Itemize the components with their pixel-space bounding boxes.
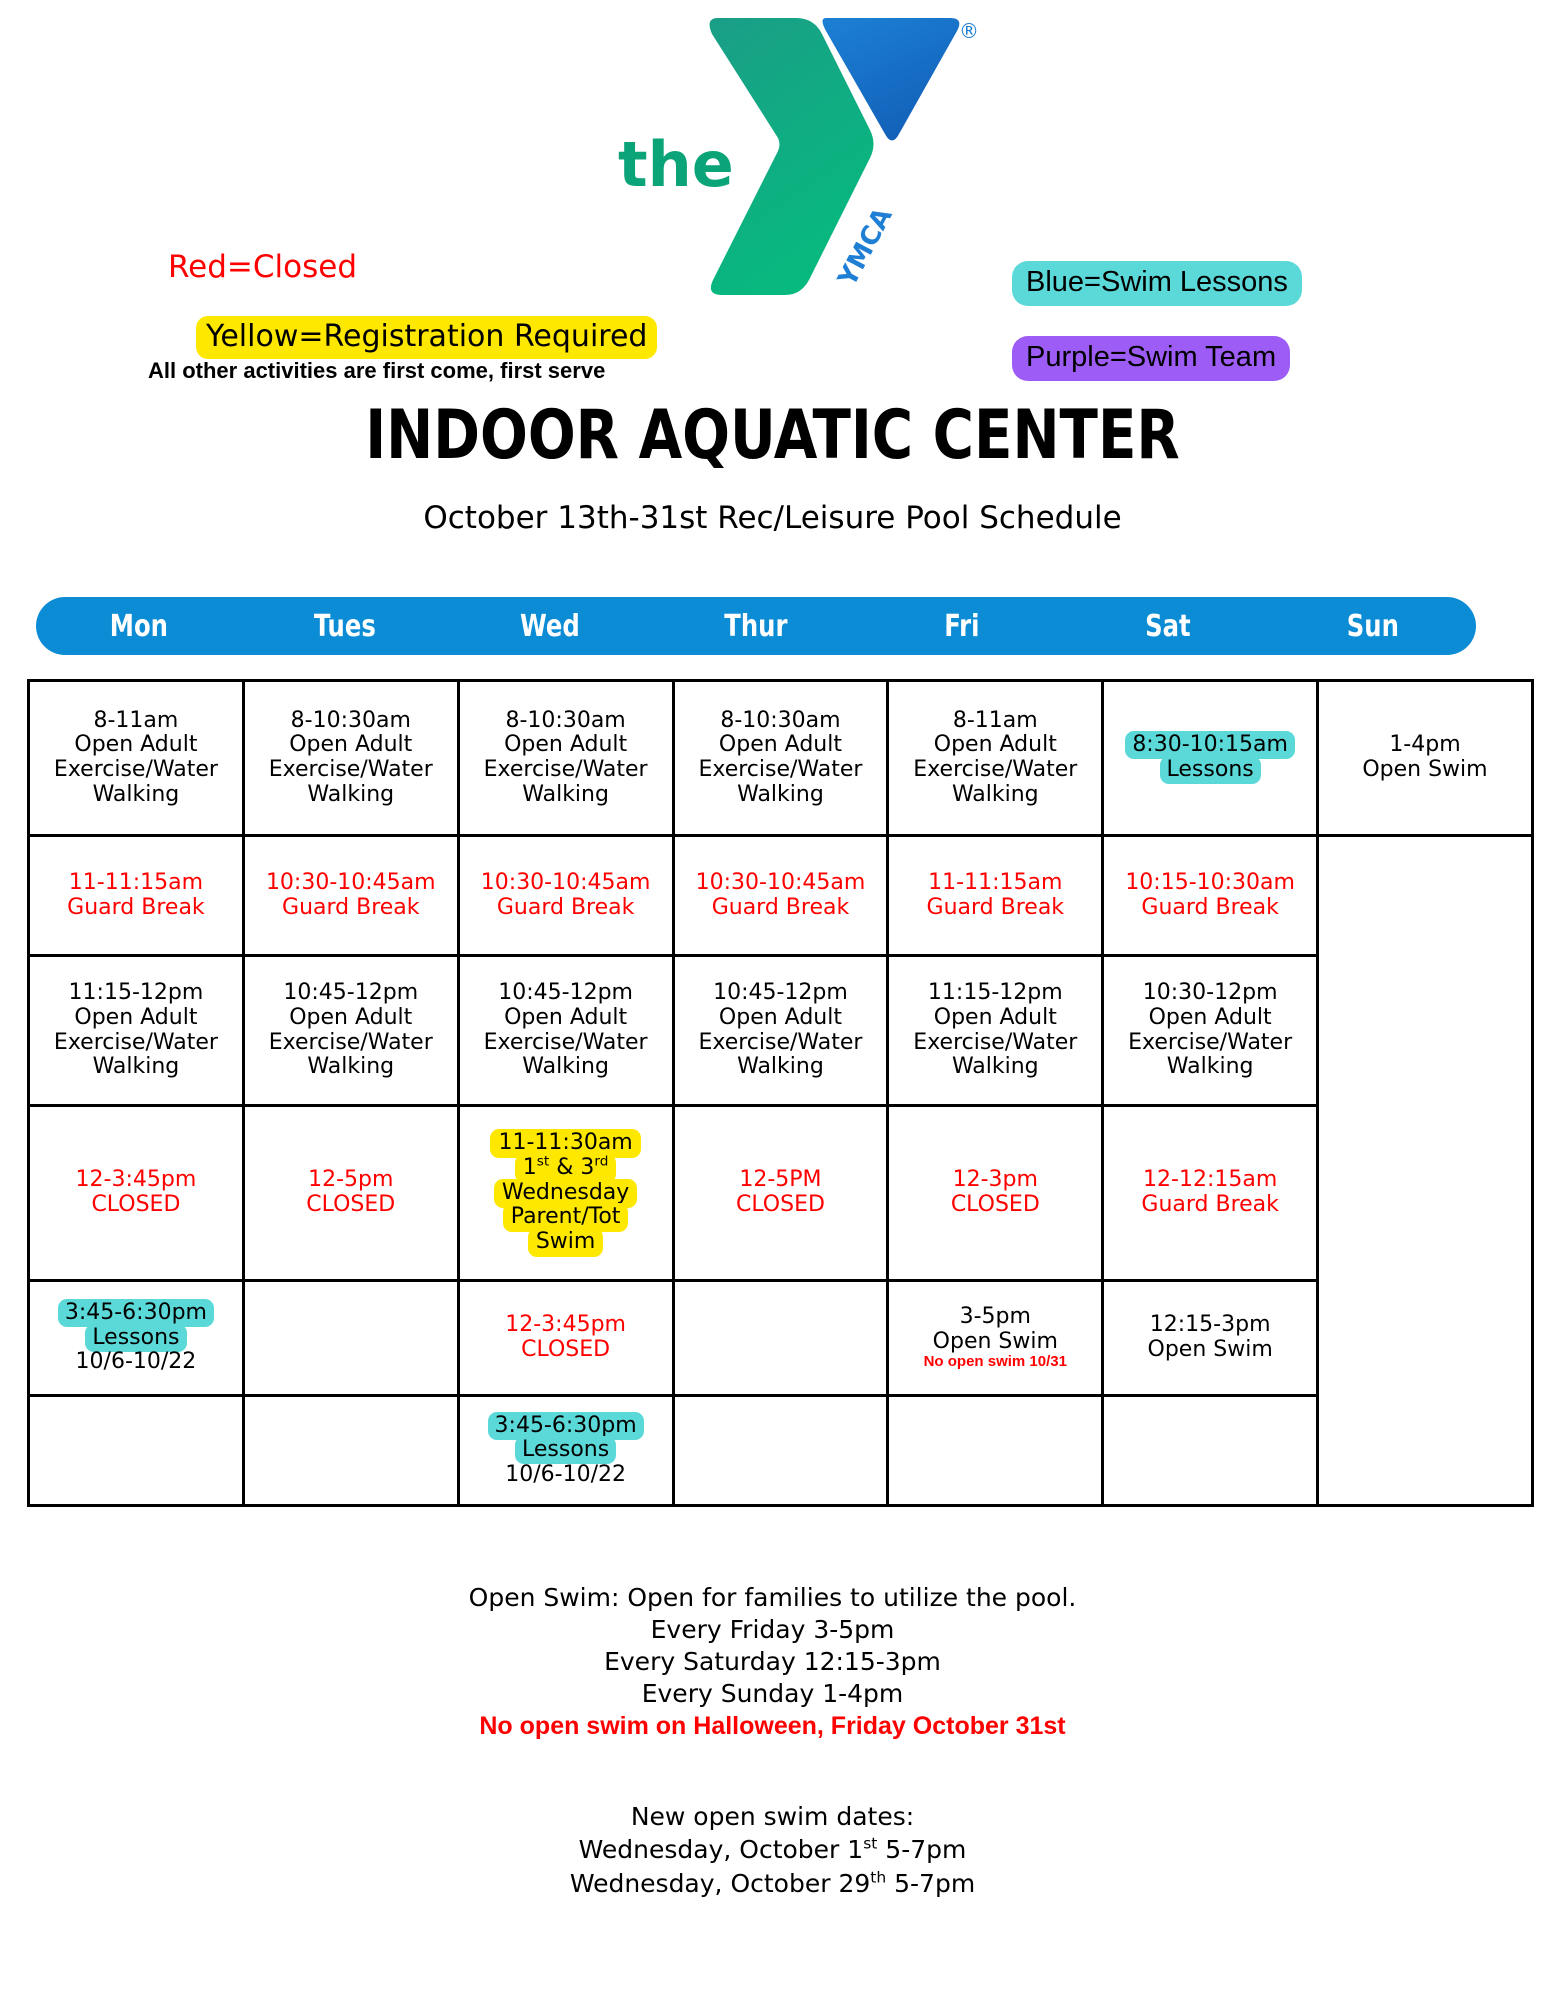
cell-line: Walking <box>891 783 1099 808</box>
cell-line: 8-10:30am <box>247 709 455 734</box>
cell-mon-r1: 8-11amOpen AdultExercise/WaterWalking <box>29 681 244 836</box>
footer-halloween-note: No open swim on Halloween, Friday Octobe… <box>0 1710 1545 1742</box>
cell-line: Walking <box>891 1055 1099 1080</box>
ymca-logo: the YMCA ® <box>600 8 990 298</box>
cell-fri-r4: 12-3pmCLOSED <box>888 1106 1103 1281</box>
schedule-row: 8-11amOpen AdultExercise/WaterWalking8-1… <box>29 681 1533 836</box>
cell-text: Open Swim <box>933 1329 1058 1354</box>
cell-line: Open Adult <box>677 733 885 758</box>
cell-text: Walking <box>952 1054 1039 1079</box>
footer-line: Open Swim: Open for families to utilize … <box>0 1582 1545 1614</box>
cell-text: 8-10:30am <box>291 708 411 733</box>
cell-text: Walking <box>952 782 1039 807</box>
cell-text: 11:15-12pm <box>928 980 1063 1005</box>
cell-line: 11:15-12pm <box>32 981 240 1006</box>
cell-text: 12-3:45pm <box>76 1167 197 1192</box>
cell-line: 12-5pm <box>247 1168 455 1193</box>
cell-line: 10:30-10:45am <box>677 871 885 896</box>
cell-text: Walking <box>737 782 824 807</box>
new-date-line: Wednesday, October 1st 5-7pm <box>0 1833 1545 1866</box>
cell-tues-r3: 10:45-12pmOpen AdultExercise/WaterWalkin… <box>243 956 458 1106</box>
cell-thur-r3: 10:45-12pmOpen AdultExercise/WaterWalkin… <box>673 956 888 1106</box>
cell-line: Walking <box>247 1055 455 1080</box>
cell-sat-r3: 10:30-12pmOpen AdultExercise/WaterWalkin… <box>1103 956 1318 1106</box>
cell-sat-r5: 12:15-3pmOpen Swim <box>1103 1281 1318 1396</box>
cell-text: 8-11am <box>94 708 179 733</box>
cell-text: Swim <box>528 1228 604 1257</box>
cell-line: Guard Break <box>891 896 1099 921</box>
cell-line: Open Swim <box>891 1330 1099 1355</box>
cell-mon-r3: 11:15-12pmOpen AdultExercise/WaterWalkin… <box>29 956 244 1106</box>
legend-all-other-note: All other activities are first come, fir… <box>148 358 605 384</box>
cell-line: Guard Break <box>1106 1193 1314 1218</box>
cell-line: Open Adult <box>32 1006 240 1031</box>
cell-text: CLOSED <box>306 1192 395 1217</box>
cell-text: Walking <box>737 1054 824 1079</box>
logo-ymca-text: YMCA <box>832 203 898 292</box>
cell-line: Open Adult <box>462 1006 670 1031</box>
cell-text: Open Adult <box>719 1005 842 1030</box>
cell-text: Open Swim <box>1148 1337 1273 1362</box>
cell-fri-r1: 8-11amOpen AdultExercise/WaterWalking <box>888 681 1103 836</box>
schedule-row: 11-11:15amGuard Break10:30-10:45amGuard … <box>29 836 1533 956</box>
cell-text: 10:30-10:45am <box>266 870 436 895</box>
legend-red: Red=Closed <box>168 249 357 285</box>
cell-line: Exercise/Water <box>1106 1031 1314 1056</box>
cell-tues-r5 <box>243 1281 458 1396</box>
cell-tues-r6 <box>243 1396 458 1506</box>
cell-text: Guard Break <box>1141 1192 1279 1217</box>
cell-line: Guard Break <box>462 896 670 921</box>
cell-text: Guard Break <box>282 895 420 920</box>
cell-text: Lessons <box>85 1324 186 1352</box>
day-header-bar: MonTuesWedThurFriSatSun <box>36 597 1476 655</box>
cell-text: Walking <box>522 782 609 807</box>
cell-line: CLOSED <box>247 1193 455 1218</box>
cell-line: Exercise/Water <box>32 1031 240 1056</box>
footer-line: Every Friday 3-5pm <box>0 1614 1545 1646</box>
cell-text: Guard Break <box>1141 895 1279 920</box>
cell-text: 10:45-12pm <box>283 980 418 1005</box>
cell-text: Guard Break <box>927 895 1065 920</box>
cell-sun-r1: 1-4pmOpen Swim <box>1318 681 1533 836</box>
cell-text: 11-11:15am <box>69 870 203 895</box>
cell-text: Open Adult <box>1149 1005 1272 1030</box>
cell-text: CLOSED <box>951 1192 1040 1217</box>
footer-line: Every Sunday 1-4pm <box>0 1678 1545 1710</box>
cell-wed-r5: 12-3:45pmCLOSED <box>458 1281 673 1396</box>
footer-line: Every Saturday 12:15-3pm <box>0 1646 1545 1678</box>
cell-line: Exercise/Water <box>247 1031 455 1056</box>
cell-line: Open Swim <box>1321 758 1529 783</box>
cell-text: Exercise/Water <box>698 757 862 782</box>
cell-text: Guard Break <box>67 895 205 920</box>
cell-text: 11:15-12pm <box>69 980 204 1005</box>
cell-fri-r2: 11-11:15amGuard Break <box>888 836 1103 956</box>
cell-text: CLOSED <box>91 1192 180 1217</box>
schedule-row: 3:45-6:30pmLessons10/6-10/22 <box>29 1396 1533 1506</box>
cell-thur-r1: 8-10:30amOpen AdultExercise/WaterWalking <box>673 681 888 836</box>
cell-wed-r3: 10:45-12pmOpen AdultExercise/WaterWalkin… <box>458 956 673 1106</box>
cell-fri-r6 <box>888 1396 1103 1506</box>
cell-line: CLOSED <box>462 1338 670 1363</box>
day-header-fri: Fri <box>869 597 1054 655</box>
cell-line: Exercise/Water <box>462 1031 670 1056</box>
cell-thur-r2: 10:30-10:45amGuard Break <box>673 836 888 956</box>
cell-text: Walking <box>93 1054 180 1079</box>
footer-notes: Open Swim: Open for families to utilize … <box>0 1582 1545 1742</box>
cell-line: Open Adult <box>1106 1006 1314 1031</box>
cell-line: Walking <box>32 783 240 808</box>
cell-line: Lessons <box>32 1326 240 1351</box>
cell-text: 10:15-10:30am <box>1125 870 1295 895</box>
cell-text: Exercise/Water <box>269 757 433 782</box>
cell-line: Parent/Tot <box>462 1205 670 1230</box>
cell-line: Open Adult <box>462 733 670 758</box>
cell-line: 10:30-10:45am <box>462 871 670 896</box>
cell-line: CLOSED <box>891 1193 1099 1218</box>
cell-text: Guard Break <box>712 895 850 920</box>
cell-text: Open Adult <box>504 1005 627 1030</box>
schedule-grid: 8-11amOpen AdultExercise/WaterWalking8-1… <box>27 679 1482 1507</box>
cell-line: Open Adult <box>247 1006 455 1031</box>
cell-text: CLOSED <box>736 1192 825 1217</box>
cell-sat-r4: 12-12:15amGuard Break <box>1103 1106 1318 1281</box>
cell-line: Walking <box>462 1055 670 1080</box>
cell-line: 10:45-12pm <box>462 981 670 1006</box>
cell-text: Lessons <box>515 1436 616 1464</box>
cell-text: Exercise/Water <box>484 757 648 782</box>
legend-blue: Blue=Swim Lessons <box>1012 261 1302 306</box>
schedule-row: 3:45-6:30pmLessons10/6-10/2212-3:45pmCLO… <box>29 1281 1533 1396</box>
cell-line: 3:45-6:30pm <box>32 1301 240 1326</box>
page-title: INDOOR AQUATIC CENTER <box>62 396 1483 475</box>
cell-line: Swim <box>462 1230 670 1255</box>
day-header-wed: Wed <box>458 597 643 655</box>
cell-line: Guard Break <box>1106 896 1314 921</box>
cell-line: Walking <box>32 1055 240 1080</box>
cell-date-range: 10/6-10/22 <box>32 1350 240 1375</box>
cell-text: 12-3pm <box>953 1167 1038 1192</box>
cell-line: 10:30-10:45am <box>247 871 455 896</box>
cell-sat-r1: 8:30-10:15amLessons <box>1103 681 1318 836</box>
cell-text: 8-10:30am <box>505 708 625 733</box>
cell-line: Lessons <box>1106 758 1314 783</box>
footer-new-dates: New open swim dates:Wednesday, October 1… <box>0 1800 1545 1900</box>
cell-mon-r2: 11-11:15amGuard Break <box>29 836 244 956</box>
cell-line: 10:30-12pm <box>1106 981 1314 1006</box>
cell-text: 3:45-6:30pm <box>58 1299 214 1327</box>
cell-text: Walking <box>1167 1054 1254 1079</box>
cell-text: 12-12:15am <box>1143 1167 1277 1192</box>
cell-line: 12:15-3pm <box>1106 1313 1314 1338</box>
cell-line: 12-5PM <box>677 1168 885 1193</box>
cell-date-range: 10/6-10/22 <box>462 1463 670 1488</box>
cell-text: 1-4pm <box>1389 732 1460 757</box>
cell-line: Open Adult <box>247 733 455 758</box>
cell-text: 11-11:15am <box>928 870 1062 895</box>
legend-purple: Purple=Swim Team <box>1012 336 1290 381</box>
cell-line: Walking <box>677 783 885 808</box>
cell-text: Exercise/Water <box>484 1030 648 1055</box>
cell-line: Exercise/Water <box>891 758 1099 783</box>
cell-line: Lessons <box>462 1438 670 1463</box>
cell-text: 10:45-12pm <box>713 980 848 1005</box>
cell-line: Walking <box>247 783 455 808</box>
cell-line: CLOSED <box>677 1193 885 1218</box>
cell-line: Exercise/Water <box>247 758 455 783</box>
cell-text: Walking <box>307 1054 394 1079</box>
day-header-thur: Thur <box>663 597 848 655</box>
page-subtitle: October 13th-31st Rec/Leisure Pool Sched… <box>0 500 1545 536</box>
cell-text: Exercise/Water <box>913 757 1077 782</box>
cell-line: Walking <box>1106 1055 1314 1080</box>
cell-line: 11-11:30am <box>462 1131 670 1156</box>
schedule-row: 11:15-12pmOpen AdultExercise/WaterWalkin… <box>29 956 1533 1106</box>
cell-mon-r5: 3:45-6:30pmLessons10/6-10/22 <box>29 1281 244 1396</box>
cell-thur-r6 <box>673 1396 888 1506</box>
cell-line: 11:15-12pm <box>891 981 1099 1006</box>
cell-text: Exercise/Water <box>913 1030 1077 1055</box>
cell-sun-merged <box>1318 836 1533 1506</box>
cell-line: 3-5pm <box>891 1305 1099 1330</box>
schedule-row: 12-3:45pmCLOSED12-5pmCLOSED11-11:30am1st… <box>29 1106 1533 1281</box>
cell-line: 10:45-12pm <box>677 981 885 1006</box>
cell-text: Exercise/Water <box>54 757 218 782</box>
cell-text: Lessons <box>1160 756 1261 784</box>
cell-text: CLOSED <box>521 1337 610 1362</box>
cell-sat-r2: 10:15-10:30amGuard Break <box>1103 836 1318 956</box>
logo-registered-icon: ® <box>959 19 979 43</box>
cell-line: 8-10:30am <box>677 709 885 734</box>
cell-tues-r1: 8-10:30amOpen AdultExercise/WaterWalking <box>243 681 458 836</box>
cell-text: 10:45-12pm <box>498 980 633 1005</box>
cell-line: Wednesday <box>462 1181 670 1206</box>
cell-text: Open Swim <box>1362 757 1487 782</box>
cell-text: Open Adult <box>719 732 842 757</box>
cell-text: 12-5PM <box>739 1167 821 1192</box>
cell-mon-r4: 12-3:45pmCLOSED <box>29 1106 244 1281</box>
cell-line: Open Swim <box>1106 1338 1314 1363</box>
cell-text: 12-3:45pm <box>505 1312 626 1337</box>
cell-text: 12-5pm <box>308 1167 393 1192</box>
cell-exception-note: No open swim 10/31 <box>891 1354 1099 1371</box>
cell-line: 8-11am <box>891 709 1099 734</box>
cell-text: Open Adult <box>74 1005 197 1030</box>
cell-tues-r4: 12-5pmCLOSED <box>243 1106 458 1281</box>
cell-fri-r3: 11:15-12pmOpen AdultExercise/WaterWalkin… <box>888 956 1103 1106</box>
legend-yellow: Yellow=Registration Required <box>196 316 657 359</box>
cell-text: 12:15-3pm <box>1150 1312 1271 1337</box>
cell-line: 12-3pm <box>891 1168 1099 1193</box>
ymca-logo-svg: the YMCA ® <box>600 8 990 298</box>
cell-text: Open Adult <box>934 1005 1057 1030</box>
cell-line: Open Adult <box>677 1006 885 1031</box>
new-dates-title: New open swim dates: <box>0 1800 1545 1833</box>
cell-line: 10:45-12pm <box>247 981 455 1006</box>
cell-line: Guard Break <box>677 896 885 921</box>
cell-line: CLOSED <box>32 1193 240 1218</box>
cell-line: 10:15-10:30am <box>1106 871 1314 896</box>
cell-text: Exercise/Water <box>269 1030 433 1055</box>
cell-fri-r5: 3-5pmOpen SwimNo open swim 10/31 <box>888 1281 1103 1396</box>
cell-line: 12-3:45pm <box>32 1168 240 1193</box>
cell-tues-r2: 10:30-10:45amGuard Break <box>243 836 458 956</box>
cell-line: 12-12:15am <box>1106 1168 1314 1193</box>
cell-wed-r6: 3:45-6:30pmLessons10/6-10/22 <box>458 1396 673 1506</box>
cell-line: 11-11:15am <box>891 871 1099 896</box>
day-header-mon: Mon <box>46 597 231 655</box>
cell-text: Walking <box>522 1054 609 1079</box>
cell-line: Walking <box>462 783 670 808</box>
cell-text: 3-5pm <box>960 1304 1031 1329</box>
cell-text: Open Adult <box>74 732 197 757</box>
cell-text: Open Adult <box>289 732 412 757</box>
cell-line: 11-11:15am <box>32 871 240 896</box>
cell-line: 12-3:45pm <box>462 1313 670 1338</box>
cell-line: Guard Break <box>247 896 455 921</box>
cell-line: 8-11am <box>32 709 240 734</box>
cell-text: Walking <box>307 782 394 807</box>
cell-text: Guard Break <box>497 895 635 920</box>
cell-line: Walking <box>677 1055 885 1080</box>
cell-line: 8-10:30am <box>462 709 670 734</box>
cell-wed-r1: 8-10:30amOpen AdultExercise/WaterWalking <box>458 681 673 836</box>
cell-text: 10:30-10:45am <box>696 870 866 895</box>
cell-text: Open Adult <box>504 732 627 757</box>
cell-line: Exercise/Water <box>462 758 670 783</box>
cell-wed-r2: 10:30-10:45amGuard Break <box>458 836 673 956</box>
cell-line: Open Adult <box>891 733 1099 758</box>
cell-line: Exercise/Water <box>32 758 240 783</box>
cell-line: Exercise/Water <box>677 1031 885 1056</box>
cell-text: Walking <box>93 782 180 807</box>
cell-line: Guard Break <box>32 896 240 921</box>
cell-line: 3:45-6:30pm <box>462 1414 670 1439</box>
cell-text: 8-10:30am <box>720 708 840 733</box>
cell-line: 8:30-10:15am <box>1106 733 1314 758</box>
cell-sat-r6 <box>1103 1396 1318 1506</box>
day-header-sun: Sun <box>1281 597 1466 655</box>
cell-thur-r4: 12-5PMCLOSED <box>673 1106 888 1281</box>
cell-text: 10:30-12pm <box>1143 980 1278 1005</box>
day-header-sat: Sat <box>1075 597 1260 655</box>
cell-line: 1st & 3rd <box>462 1156 670 1181</box>
cell-line: Open Adult <box>32 733 240 758</box>
cell-thur-r5 <box>673 1281 888 1396</box>
cell-text: 8-11am <box>953 708 1038 733</box>
new-date-line: Wednesday, October 29th 5-7pm <box>0 1867 1545 1900</box>
cell-text: Exercise/Water <box>54 1030 218 1055</box>
cell-line: Open Adult <box>891 1006 1099 1031</box>
cell-line: Exercise/Water <box>891 1031 1099 1056</box>
cell-text: Exercise/Water <box>698 1030 862 1055</box>
schedule-table: 8-11amOpen AdultExercise/WaterWalking8-1… <box>27 679 1534 1507</box>
cell-text: 10:30-10:45am <box>481 870 651 895</box>
cell-text: Open Adult <box>934 732 1057 757</box>
cell-text: Open Adult <box>289 1005 412 1030</box>
cell-text: Exercise/Water <box>1128 1030 1292 1055</box>
cell-wed-r4: 11-11:30am1st & 3rdWednesdayParent/TotSw… <box>458 1106 673 1281</box>
logo-the-text: the <box>618 128 734 201</box>
cell-line: Exercise/Water <box>677 758 885 783</box>
day-header-tues: Tues <box>252 597 437 655</box>
cell-line: 1-4pm <box>1321 733 1529 758</box>
cell-mon-r6 <box>29 1396 244 1506</box>
